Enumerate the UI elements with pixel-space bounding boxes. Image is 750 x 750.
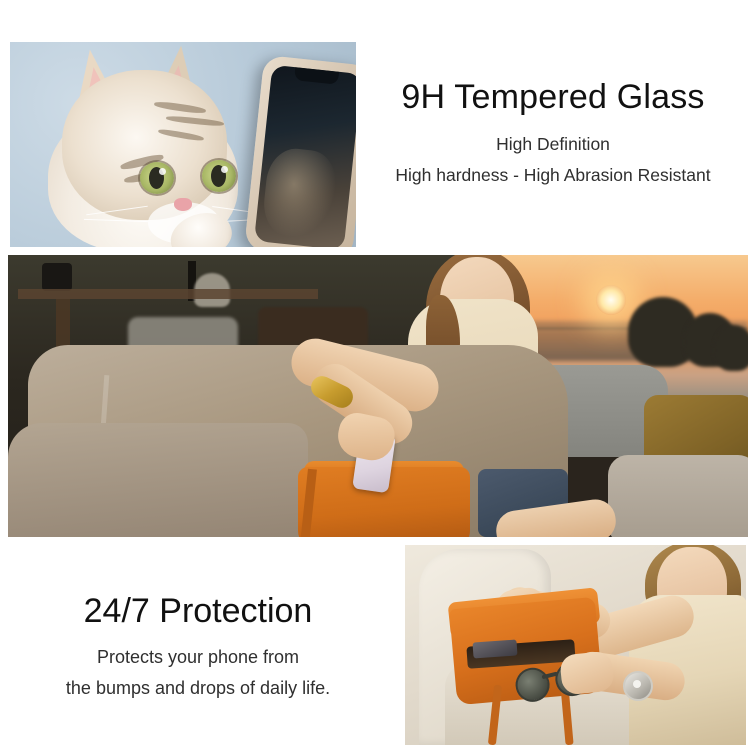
cat-stripe: [166, 115, 224, 127]
protection-subtitle-line-1: Protects your phone from: [12, 643, 384, 672]
phone-notch: [294, 67, 339, 85]
sofa-right-arm: [608, 455, 748, 537]
cat-eye-right: [202, 160, 236, 192]
cat-nose: [174, 198, 192, 211]
glass-subtitle-line-1: High Definition: [360, 131, 746, 158]
cat-stripe: [154, 100, 206, 114]
woman-hand-bottom: [559, 650, 615, 695]
protection-subtitle-line-2: the bumps and drops of daily life.: [12, 674, 384, 703]
woman-putting-phone-in-bag-photo: [8, 255, 748, 537]
room-shelf: [18, 289, 318, 299]
product-feature-banner: 9H Tempered Glass High Definition High h…: [0, 0, 750, 750]
glass-heading: 9H Tempered Glass: [360, 78, 746, 117]
protection-text-block: 24/7 Protection Protects your phone from…: [12, 592, 384, 703]
phone-screen: [254, 65, 356, 247]
phone-inside-bag: [472, 639, 517, 658]
glass-subtitle-line-2: High hardness - High Abrasion Resistant: [360, 162, 746, 189]
cat-with-phone-photo: [10, 42, 356, 247]
cat-eye-left: [140, 162, 174, 194]
sofa-left-arm: [8, 423, 308, 537]
tree-silhouette: [714, 325, 748, 371]
cat-stripe: [158, 128, 204, 142]
room-decor-pot: [42, 263, 72, 291]
cat-head: [62, 70, 227, 220]
tempered-glass-text-block: 9H Tempered Glass High Definition High h…: [360, 78, 746, 189]
protection-heading: 24/7 Protection: [12, 592, 384, 631]
phone-screen-reflection: [261, 146, 340, 241]
shocked-woman-bag-photo: [405, 545, 746, 745]
wristwatch: [623, 671, 653, 701]
smartphone-device: [244, 55, 356, 247]
sun-disc: [596, 285, 626, 315]
